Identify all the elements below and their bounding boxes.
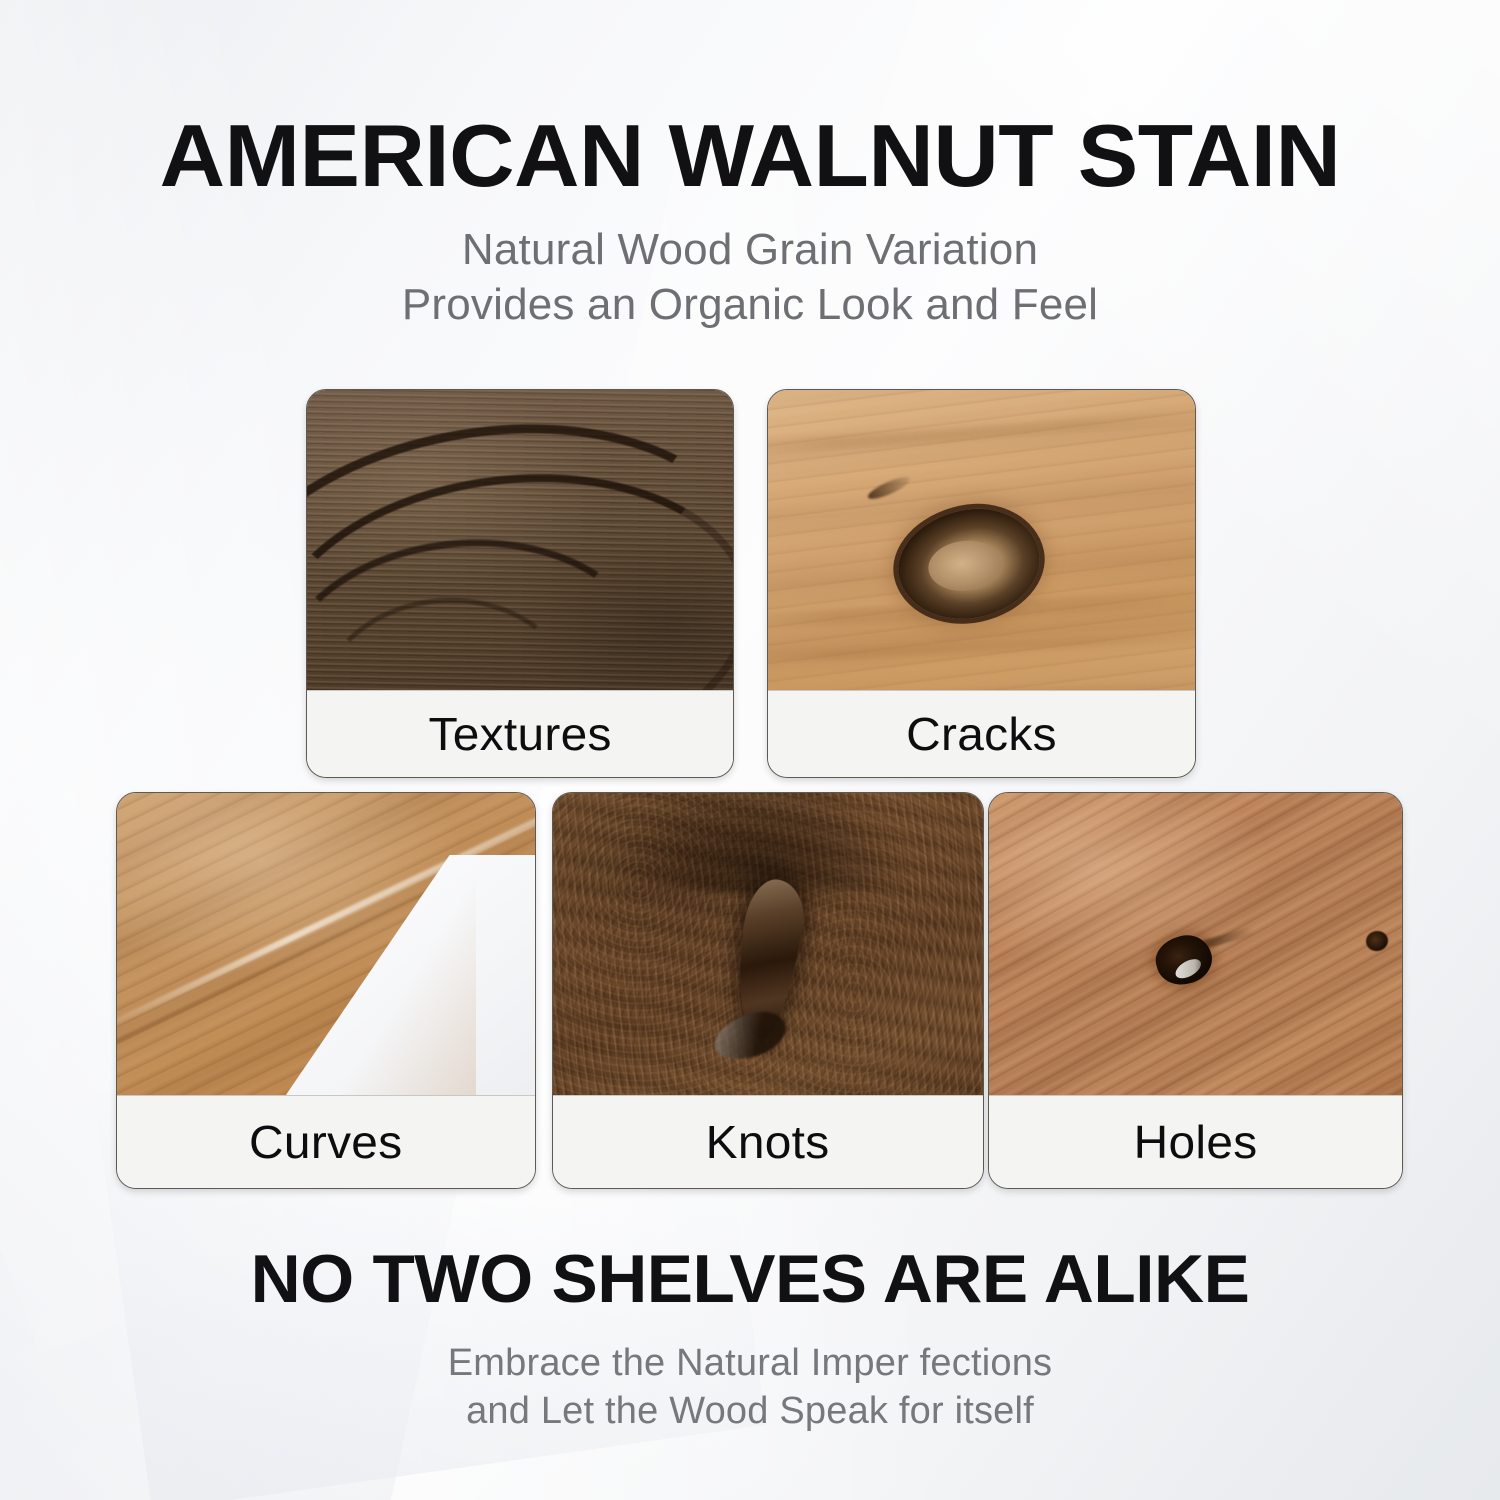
caption-label-holes: Holes — [1134, 1115, 1258, 1169]
footer-title-text: NO TWO SHELVES ARE ALIKE — [0, 1245, 1500, 1313]
poster-canvas: AMERICAN WALNUT STAIN Natural Wood Grain… — [0, 0, 1500, 1500]
hole-chip — [1172, 955, 1204, 982]
caption-knots: Knots — [553, 1095, 983, 1188]
footer-subtitle: Embrace the Natural Imper fections and L… — [0, 1340, 1500, 1435]
photo-knots — [553, 793, 983, 1095]
page-subtitle-line-2: Provides an Organic Look and Feel — [0, 277, 1500, 332]
photo-curves — [117, 793, 535, 1095]
feature-card-holes: Holes — [988, 792, 1403, 1189]
feature-card-cracks: Cracks — [767, 389, 1196, 778]
page-subtitle-line-1: Natural Wood Grain Variation — [0, 222, 1500, 277]
caption-holes: Holes — [989, 1095, 1402, 1188]
caption-label-textures: Textures — [428, 707, 611, 761]
caption-label-curves: Curves — [249, 1115, 402, 1169]
page-title-text: AMERICAN WALNUT STAIN — [0, 112, 1500, 200]
footer-subtitle-line-2: and Let the Wood Speak for itself — [0, 1388, 1500, 1436]
feature-card-knots: Knots — [552, 792, 984, 1189]
photo-cracks — [768, 390, 1195, 690]
caption-curves: Curves — [117, 1095, 535, 1188]
knot-core — [926, 537, 1005, 594]
caption-textures: Textures — [307, 690, 733, 777]
page-subtitle: Natural Wood Grain Variation Provides an… — [0, 222, 1500, 332]
caption-label-cracks: Cracks — [906, 707, 1057, 761]
page-title: AMERICAN WALNUT STAIN — [0, 112, 1500, 200]
caption-label-knots: Knots — [706, 1115, 830, 1169]
shadow-overlay — [307, 390, 733, 690]
footer-subtitle-line-1: Embrace the Natural Imper fections — [0, 1340, 1500, 1388]
footer-title: NO TWO SHELVES ARE ALIKE — [0, 1245, 1500, 1313]
photo-textures — [307, 390, 733, 690]
photo-holes — [989, 793, 1402, 1095]
feature-card-curves: Curves — [116, 792, 536, 1189]
shadow-overlay — [613, 793, 913, 893]
caption-cracks: Cracks — [768, 690, 1195, 777]
feature-card-textures: Textures — [306, 389, 734, 778]
